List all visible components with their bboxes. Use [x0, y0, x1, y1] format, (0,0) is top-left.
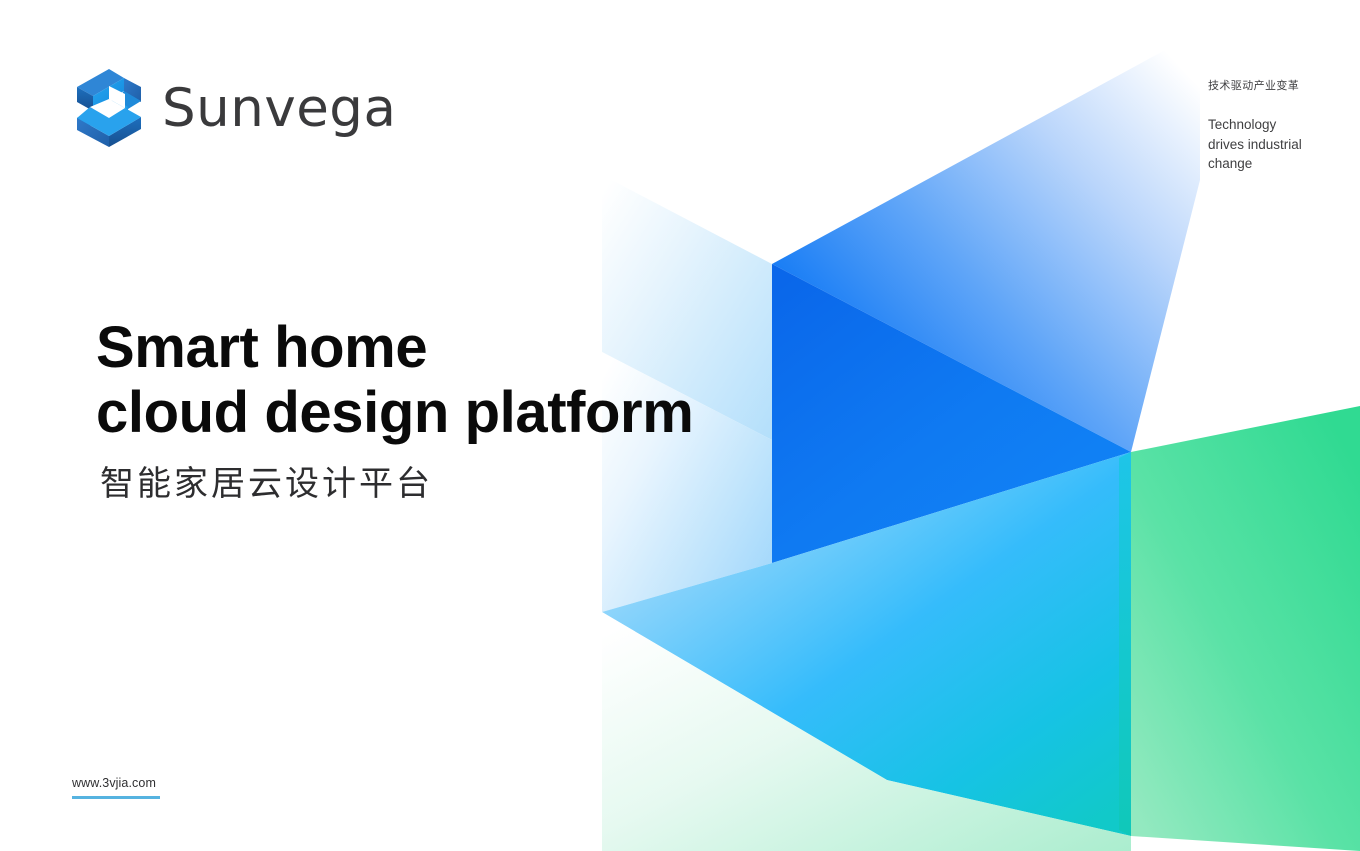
footer-website-link[interactable]: www.3vjia.com: [72, 776, 160, 799]
page-title-line-1: Smart home: [96, 316, 693, 381]
tagline-block: 技术驱动产业变革 Technology drives industrial ch…: [1208, 78, 1348, 173]
tagline-english-line-1: Technology: [1208, 115, 1348, 134]
tagline-english: Technology drives industrial change: [1208, 115, 1348, 172]
brand-wordmark: Sunvega: [162, 82, 396, 135]
page-title: Smart home cloud design platform: [96, 316, 693, 446]
presentation-slide: Sunvega 技术驱动产业变革 Technology drives indus…: [0, 0, 1360, 851]
sunvega-isometric-cube-icon: [72, 66, 146, 150]
page-subtitle: 智能家居云设计平台: [100, 466, 693, 503]
headline-block: Smart home cloud design platform 智能家居云设计…: [96, 316, 693, 503]
tagline-english-line-3: change: [1208, 154, 1348, 173]
tagline-english-line-2: drives industrial: [1208, 135, 1348, 154]
page-title-line-2: cloud design platform: [96, 381, 693, 446]
website-url-text: www.3vjia.com: [72, 776, 160, 790]
tagline-chinese: 技术驱动产业变革: [1208, 78, 1348, 93]
brand-logo-lockup[interactable]: Sunvega: [72, 66, 396, 150]
website-url-underline: [72, 796, 160, 799]
